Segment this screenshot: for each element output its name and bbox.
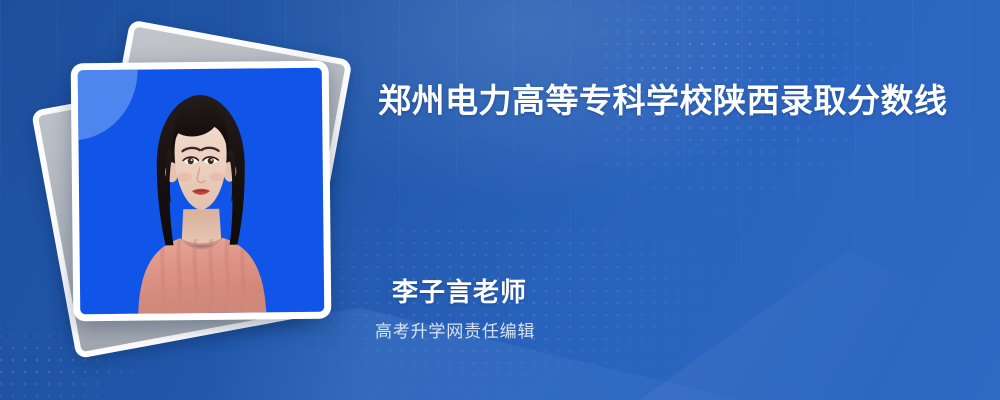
author-photo bbox=[78, 68, 325, 315]
author-role: 高考升学网责任编辑 bbox=[375, 320, 535, 344]
page-title: 郑州电力高等专科学校陕西录取分数线 bbox=[378, 74, 958, 127]
author-photo-card bbox=[71, 61, 332, 322]
author-name: 李子言老师 bbox=[392, 275, 527, 309]
portrait-illustration bbox=[78, 68, 325, 315]
banner-text-column: 郑州电力高等专科学校陕西录取分数线 李子言老师 高考升学网责任编辑 bbox=[375, 0, 975, 400]
author-photo-card-stack bbox=[46, 36, 346, 346]
article-header-banner: 郑州电力高等专科学校陕西录取分数线 李子言老师 高考升学网责任编辑 bbox=[0, 0, 1000, 400]
